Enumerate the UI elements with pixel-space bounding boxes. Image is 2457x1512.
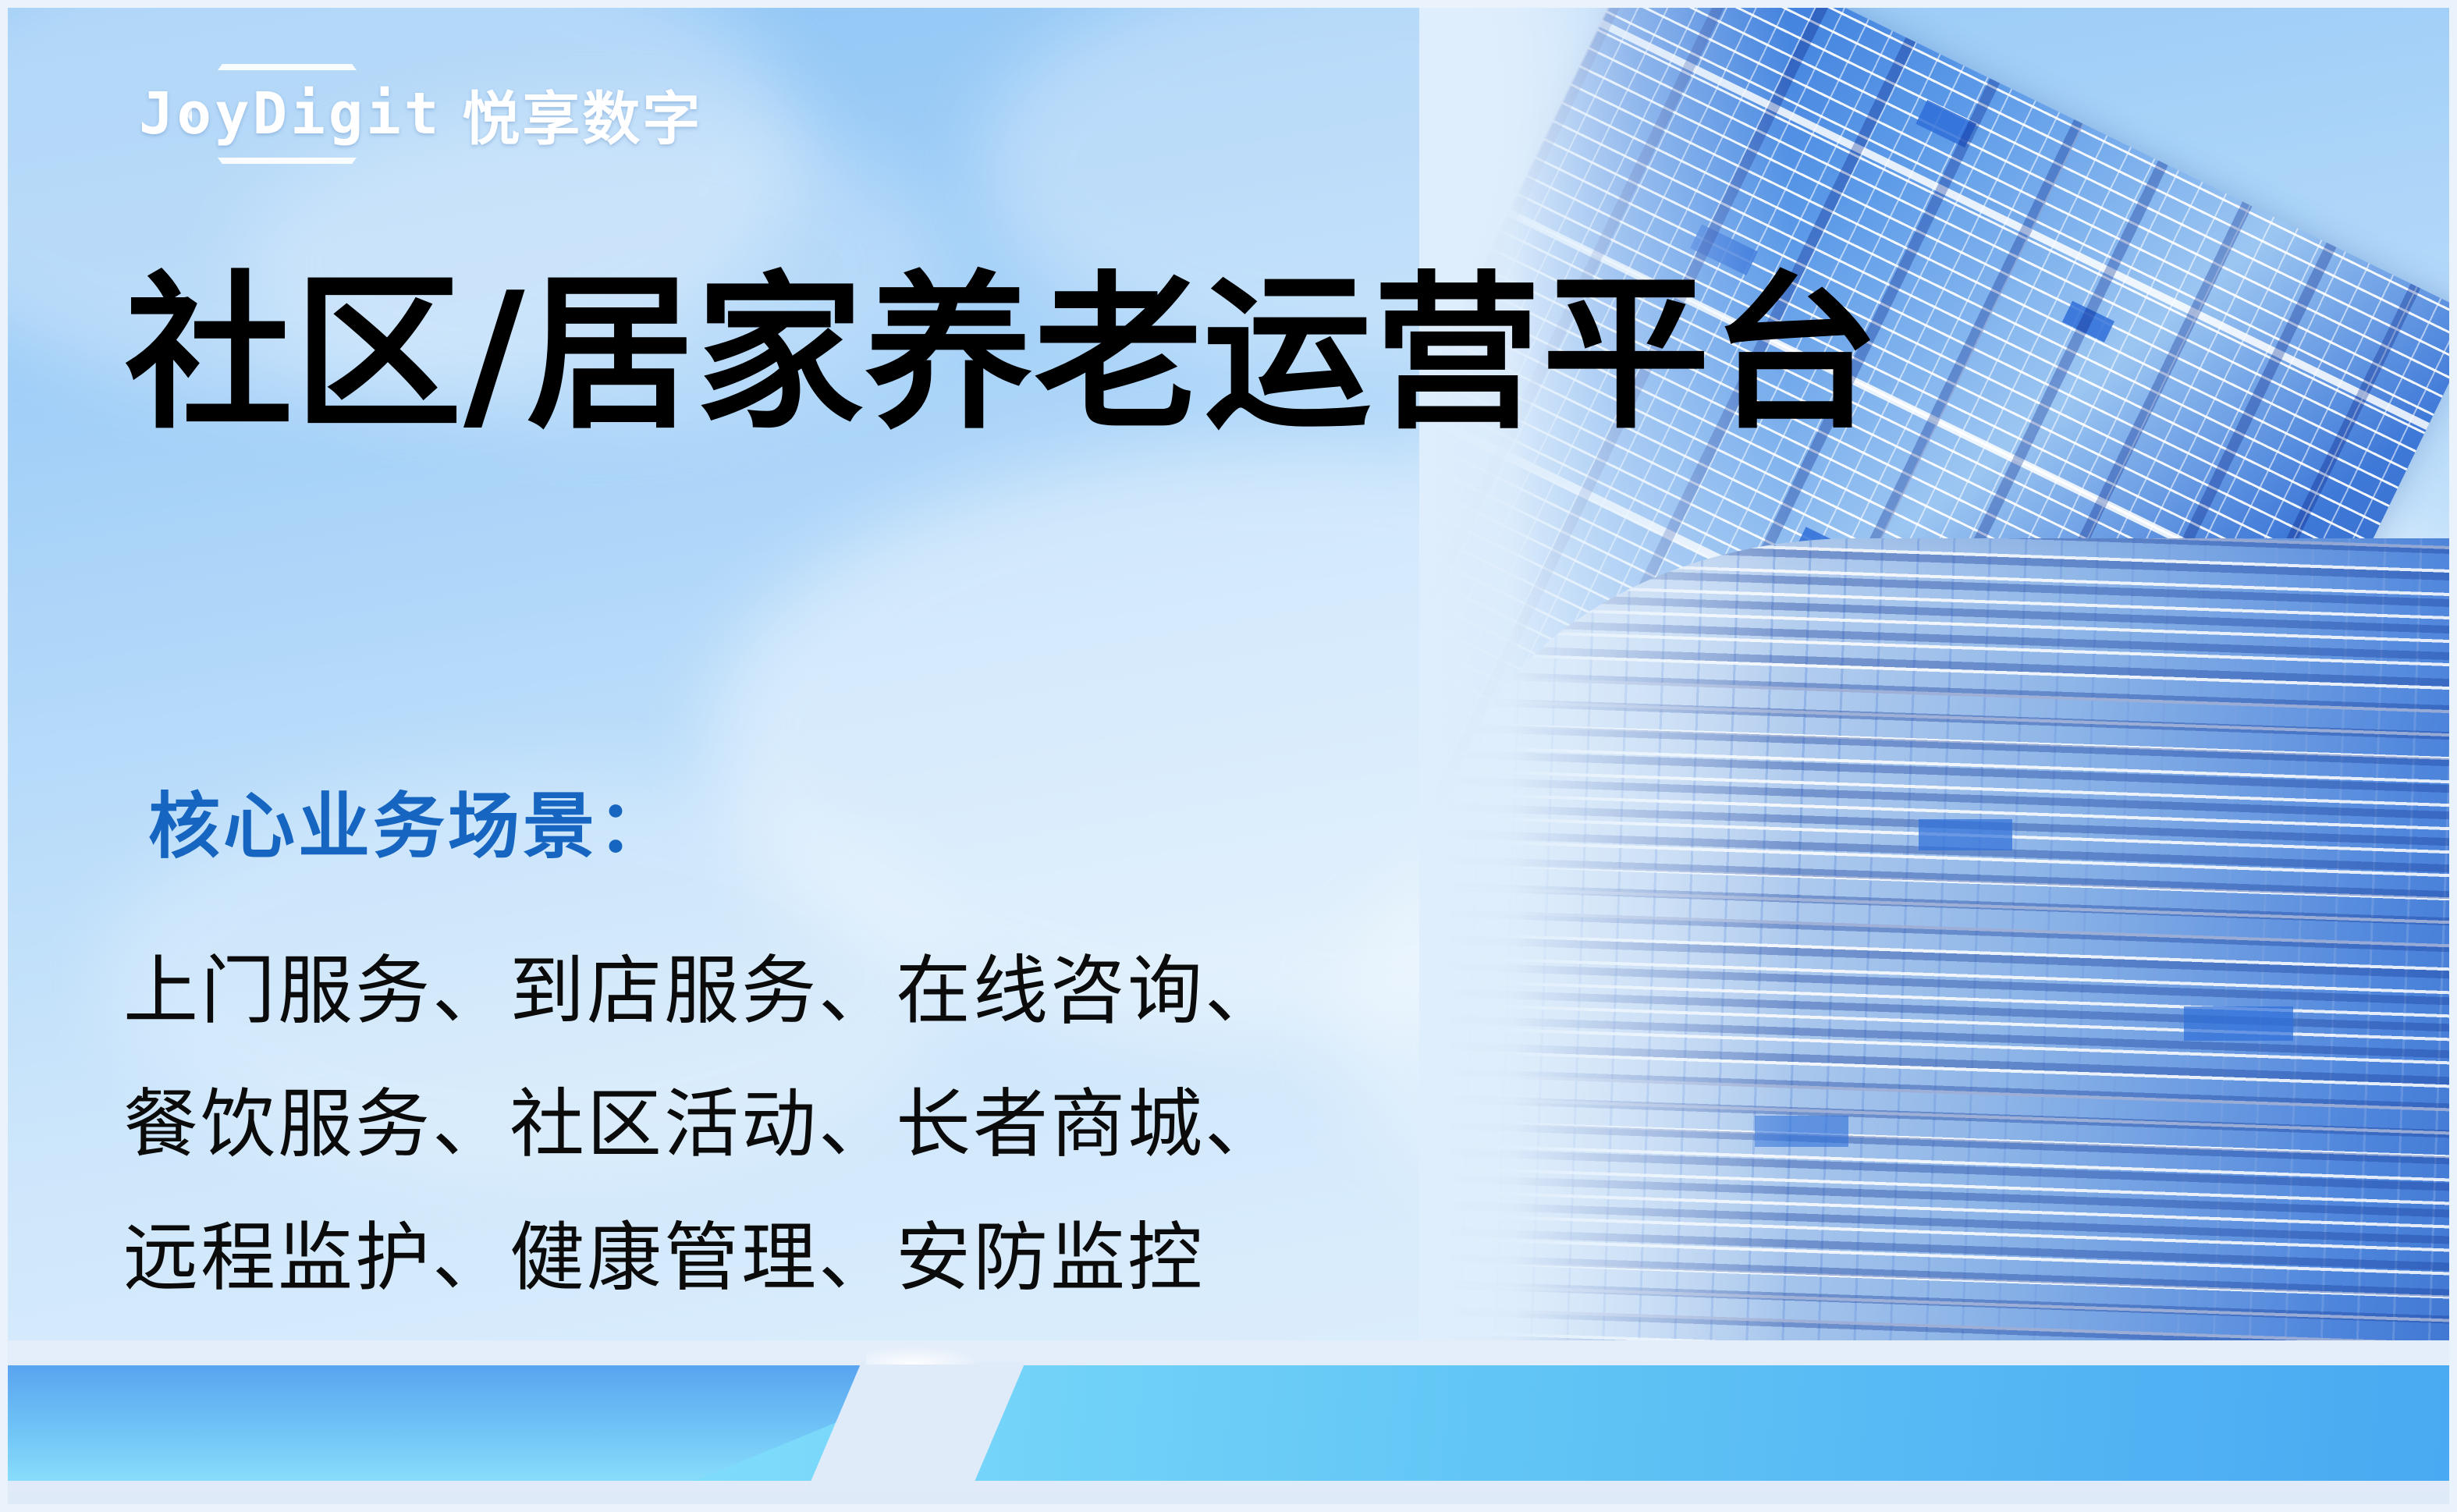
scenario-line: 上门服务、到店服务、在线咨询、: [123, 925, 1282, 1058]
scenario-line: 远程监护、健康管理、安防监控: [123, 1191, 1282, 1325]
scenario-line: 餐饮服务、社区活动、长者商城、: [123, 1058, 1282, 1191]
skyscraper-photo-inner: [1419, 8, 2449, 1381]
brand-logo: JoyDigit 悦享数字: [139, 67, 702, 161]
slide-root: JoyDigit 悦享数字 社区/居家养老运营平台 核心业务场景： 上门服务、到…: [0, 0, 2457, 1512]
skyscraper-photo: [1419, 8, 2449, 1381]
page-title: 社区/居家养老运营平台: [125, 264, 1881, 445]
ribbon-sparkle: [866, 1346, 983, 1365]
photo-edge-fade: [1419, 8, 2449, 1381]
scenario-list: 上门服务、到店服务、在线咨询、 餐饮服务、社区活动、长者商城、 远程监护、健康管…: [123, 925, 1282, 1325]
footer-ribbon: [8, 1340, 2449, 1504]
section-subheading: 核心业务场景：: [148, 768, 673, 872]
logo-english-text: JoyDigit: [139, 80, 442, 147]
logo-chinese-text: 悦享数字: [462, 73, 702, 156]
